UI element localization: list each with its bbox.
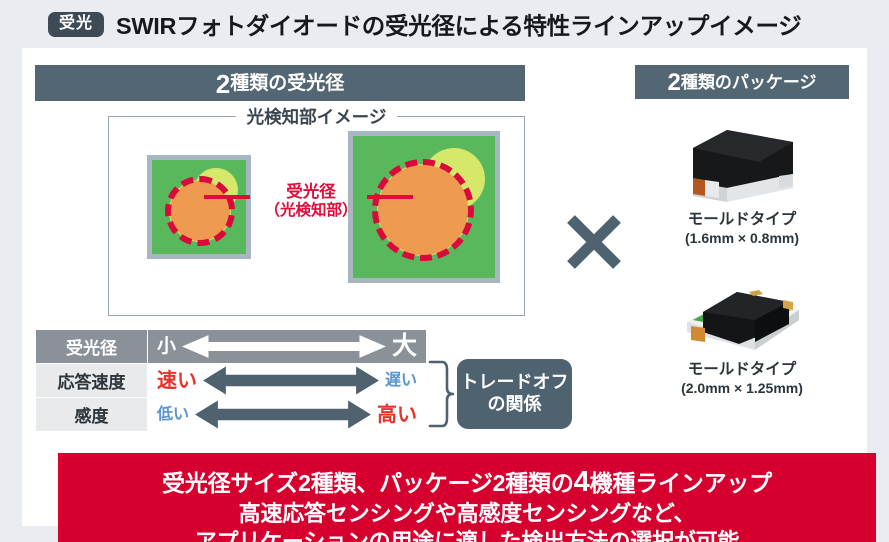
double-arrow-icon: [203, 364, 379, 397]
content-card: 2種類の受光径 光検知部イメージ 受光径 （光検知部） 受光径小大応答速度速い遅…: [22, 48, 867, 526]
package-dimensions: (2.0mm × 1.25mm): [635, 379, 849, 397]
page-title: SWIRフォトダイオードの受光径による特性ラインアップイメージ: [116, 7, 801, 41]
left-heading-number: 2: [216, 71, 230, 97]
double-arrow-icon: [195, 398, 371, 431]
table-row-label: 応答速度: [36, 364, 148, 398]
table-row-scale: 低い高い: [148, 398, 427, 432]
banner-line-1-count: 4: [574, 466, 590, 498]
small-aperture-detector: [147, 155, 251, 259]
table-row-scale: 速い遅い: [148, 364, 427, 398]
tradeoff-line-1: トレードオフ: [461, 372, 569, 394]
tradeoff-brace-icon: [428, 360, 454, 428]
detector-image-group: 光検知部イメージ 受光径 （光検知部）: [108, 116, 525, 316]
left-heading-text: 種類の受光径: [230, 74, 344, 93]
mold-package-photo-small: [635, 110, 849, 210]
package-caption: モールドタイプ: [635, 210, 849, 229]
right-heading-number: 2: [667, 71, 680, 95]
package-block: モールドタイプ (2.0mm × 1.25mm): [635, 260, 849, 398]
package-block: モールドタイプ (1.6mm × 0.8mm): [635, 110, 849, 248]
left-section-heading: 2種類の受光径: [35, 65, 525, 101]
multiply-icon: [563, 211, 625, 273]
table-row: 感度低い高い: [36, 398, 427, 432]
package-caption: モールドタイプ: [635, 360, 849, 379]
banner-line-1-a: 受光径サイズ2種類、パッケージ2種類の: [162, 470, 574, 496]
tradeoff-box: トレードオフ の関係: [457, 359, 572, 429]
characteristics-table: 受光径小大応答速度速い遅い感度低い高い: [35, 329, 427, 432]
table-row-scale: 小大: [148, 330, 427, 364]
table-row-label: 感度: [36, 398, 148, 432]
banner-line-1: 受光径サイズ2種類、パッケージ2種類の4機種ラインアップ: [162, 464, 772, 500]
scale-right-label: 高い: [377, 405, 417, 425]
scale-left-label: 低い: [157, 407, 189, 423]
tradeoff-line-2: の関係: [488, 394, 542, 416]
callout-line-2: （光検知部）: [237, 202, 385, 220]
summary-banner: 受光径サイズ2種類、パッケージ2種類の4機種ラインアップ 高速応答センシングや高…: [58, 453, 876, 542]
scale-right-label: 遅い: [385, 373, 417, 389]
banner-line-1-b: 機種ラインアップ: [590, 470, 772, 496]
callout-line-1: 受光径: [237, 183, 385, 202]
scale-right-label: 大: [392, 334, 417, 359]
table-row: 受光径小大: [36, 330, 427, 364]
table-row-label: 受光径: [36, 330, 148, 364]
right-section-heading: 2種類のパッケージ: [635, 65, 849, 99]
detector-group-legend: 光検知部イメージ: [236, 104, 398, 129]
aperture-dashed-ring: [372, 159, 474, 261]
right-heading-text: 種類のパッケージ: [681, 74, 817, 91]
banner-line-3: アプリケーションの用途に適した検出方法の選択が可能: [195, 528, 740, 542]
banner-line-2: 高速応答センシングや高感度センシングなど、: [239, 500, 696, 528]
table-row: 応答速度速い遅い: [36, 364, 427, 398]
scale-left-label: 小: [157, 337, 176, 356]
page-header: 受光 SWIRフォトダイオードの受光径による特性ラインアップイメージ: [0, 0, 889, 48]
double-arrow-icon: [182, 330, 386, 363]
scale-left-label: 速い: [157, 371, 197, 391]
mold-package-photo-large: [635, 260, 849, 360]
aperture-dashed-ring: [165, 176, 235, 246]
package-dimensions: (1.6mm × 0.8mm): [635, 229, 849, 247]
category-badge: 受光: [48, 12, 104, 37]
aperture-callout-label: 受光径 （光検知部）: [237, 183, 385, 221]
